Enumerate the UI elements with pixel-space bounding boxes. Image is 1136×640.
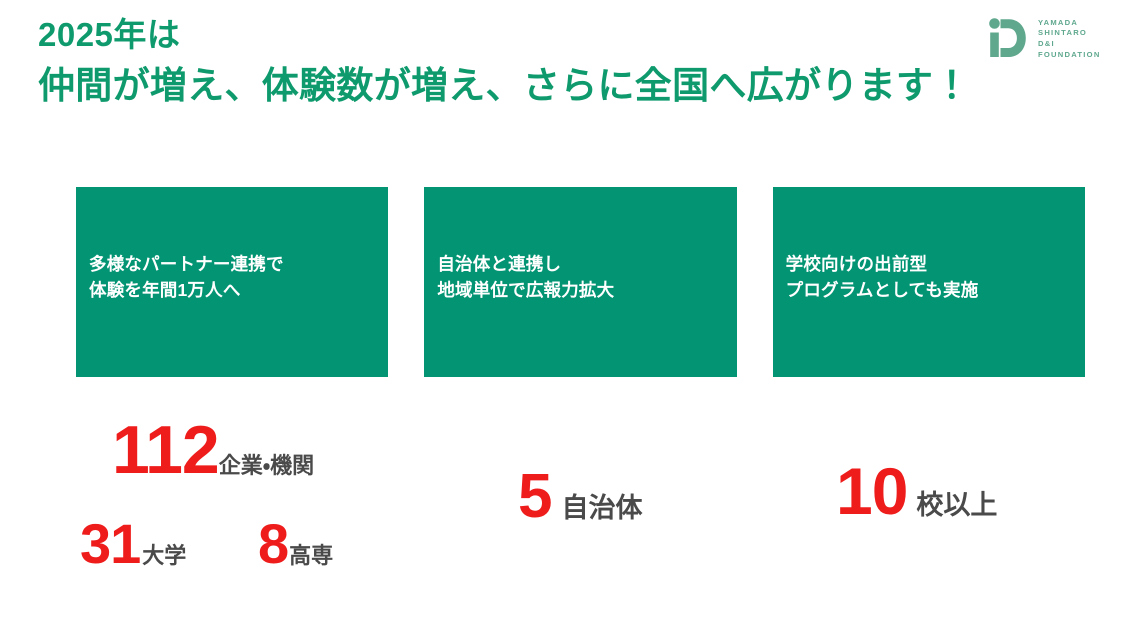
initiative-box-municipalities-text: 自治体と連携し 地域単位で広報力拡大 bbox=[437, 251, 614, 304]
yamada-id-mark-icon bbox=[985, 16, 1029, 60]
page-title-line-2: 仲間が増え、体験数が増え、さらに全国へ広がります！ bbox=[38, 67, 971, 104]
initiative-box-municipalities: 自治体と連携し 地域単位で広報力拡大 bbox=[424, 187, 736, 377]
stat-municipalities-unit: 自治体 bbox=[561, 495, 642, 522]
page-title-line-1: 2025年は bbox=[38, 18, 971, 51]
stat-universities: 31 大学 bbox=[80, 516, 186, 572]
stat-companies-number: 112 bbox=[112, 416, 219, 484]
stat-universities-number: 31 bbox=[80, 516, 140, 572]
stat-companies: 112 企業・機関 bbox=[112, 416, 314, 484]
stat-kosen-unit: 高専 bbox=[289, 545, 333, 567]
initiative-box-partners: 多様なパートナー連携で 体験を年間1万人へ bbox=[76, 187, 388, 377]
initiative-box-schools-text: 学校向けの出前型 プログラムとしても実施 bbox=[786, 251, 979, 304]
logo-line-3: D&I bbox=[1038, 39, 1101, 49]
stat-companies-unit: 企業・機関 bbox=[219, 455, 314, 477]
stat-kosen-number: 8 bbox=[258, 516, 288, 572]
logo-line-4: FOUNDATION bbox=[1038, 50, 1101, 60]
stats-group: 112 企業・機関 31 大学 8 高専 5 自治体 10 校以上 bbox=[0, 398, 1136, 598]
stat-municipalities: 5 自治体 bbox=[518, 466, 642, 528]
stat-schools-number: 10 bbox=[836, 458, 907, 524]
foundation-logo: YAMADA SHINTARO D&I FOUNDATION bbox=[985, 16, 1101, 60]
slide-root: YAMADA SHINTARO D&I FOUNDATION 2025年は 仲間… bbox=[0, 0, 1136, 640]
logo-line-2: SHINTARO bbox=[1038, 28, 1101, 38]
page-title: 2025年は 仲間が増え、体験数が増え、さらに全国へ広がります！ bbox=[38, 18, 971, 104]
stat-kosen: 8 高専 bbox=[258, 516, 333, 572]
initiative-box-schools: 学校向けの出前型 プログラムとしても実施 bbox=[773, 187, 1085, 377]
logo-wordmark: YAMADA SHINTARO D&I FOUNDATION bbox=[1038, 17, 1101, 60]
stat-universities-unit: 大学 bbox=[142, 545, 186, 567]
stat-schools-unit: 校以上 bbox=[916, 492, 997, 519]
initiative-box-partners-text: 多様なパートナー連携で 体験を年間1万人へ bbox=[89, 251, 284, 304]
initiative-box-group: 多様なパートナー連携で 体験を年間1万人へ 自治体と連携し 地域単位で広報力拡大… bbox=[76, 187, 1085, 377]
logo-line-1: YAMADA bbox=[1038, 18, 1101, 28]
stat-schools: 10 校以上 bbox=[836, 458, 997, 524]
stat-municipalities-number: 5 bbox=[518, 466, 551, 528]
